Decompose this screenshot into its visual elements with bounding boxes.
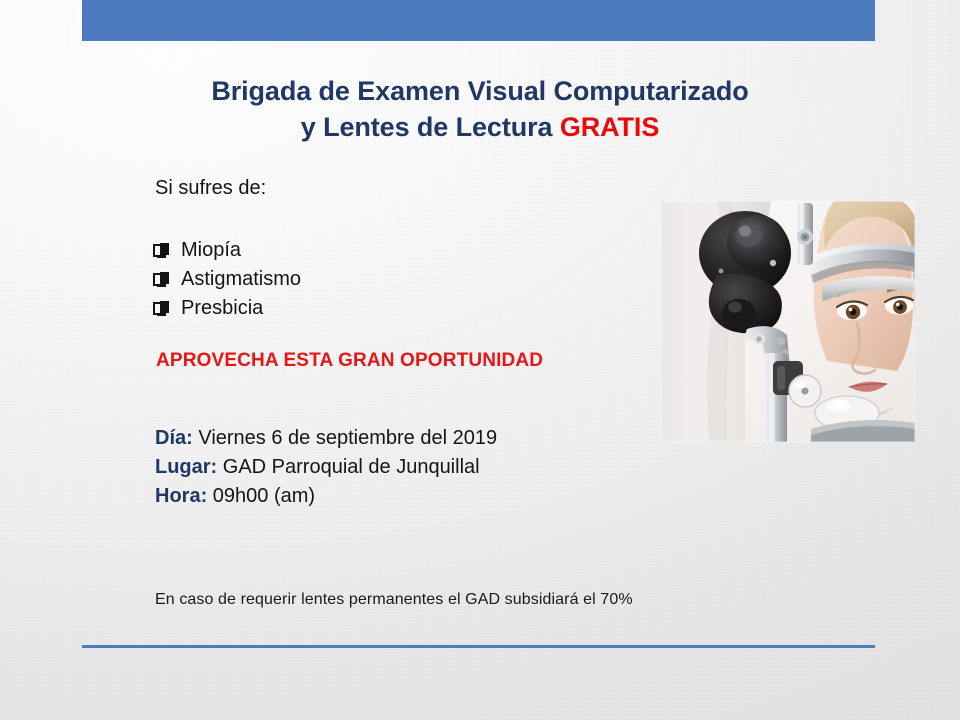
symptom-label: Miopía	[181, 236, 241, 265]
list-item: Presbicia	[153, 294, 301, 323]
event-details: Día: Viernes 6 de septiembre del 2019 Lu…	[155, 424, 497, 511]
page-title: Brigada de Examen Visual Computarizado y…	[80, 74, 880, 146]
bottom-rule-divider	[82, 645, 875, 648]
list-item: Miopía	[153, 236, 301, 265]
top-banner-bar	[82, 0, 875, 41]
detail-row-hora: Hora: 09h00 (am)	[155, 482, 497, 511]
detail-value: Viernes 6 de septiembre del 2019	[193, 427, 497, 449]
title-line-2-text: y Lentes de Lectura	[301, 112, 560, 142]
eye-exam-illustration	[661, 201, 915, 442]
symptom-list: Miopía Astigmatismo Presbicia	[153, 236, 301, 323]
checkbox-square-icon	[153, 273, 166, 286]
symptom-label: Presbicia	[181, 294, 263, 323]
detail-row-dia: Día: Viernes 6 de septiembre del 2019	[155, 424, 497, 453]
lead-text: Si sufres de:	[155, 177, 266, 200]
title-line-1: Brigada de Examen Visual Computarizado	[80, 74, 880, 110]
footnote-text: En caso de requerir lentes permanentes e…	[155, 591, 633, 609]
detail-value: 09h00 (am)	[207, 485, 315, 507]
list-item: Astigmatismo	[153, 265, 301, 294]
detail-key: Día:	[155, 427, 193, 449]
eye-exam-photo	[661, 201, 915, 442]
checkbox-square-icon	[153, 244, 166, 257]
slide-canvas: Brigada de Examen Visual Computarizado y…	[0, 0, 960, 720]
callout-text: APROVECHA ESTA GRAN OPORTUNIDAD	[156, 350, 543, 372]
symptom-label: Astigmatismo	[181, 265, 301, 294]
detail-key: Hora:	[155, 485, 207, 507]
title-highlight-gratis: GRATIS	[560, 112, 659, 142]
title-line-2: y Lentes de Lectura GRATIS	[80, 110, 880, 146]
detail-value: GAD Parroquial de Junquillal	[217, 456, 479, 478]
checkbox-square-icon	[153, 302, 166, 315]
detail-row-lugar: Lugar: GAD Parroquial de Junquillal	[155, 453, 497, 482]
detail-key: Lugar:	[155, 456, 217, 478]
